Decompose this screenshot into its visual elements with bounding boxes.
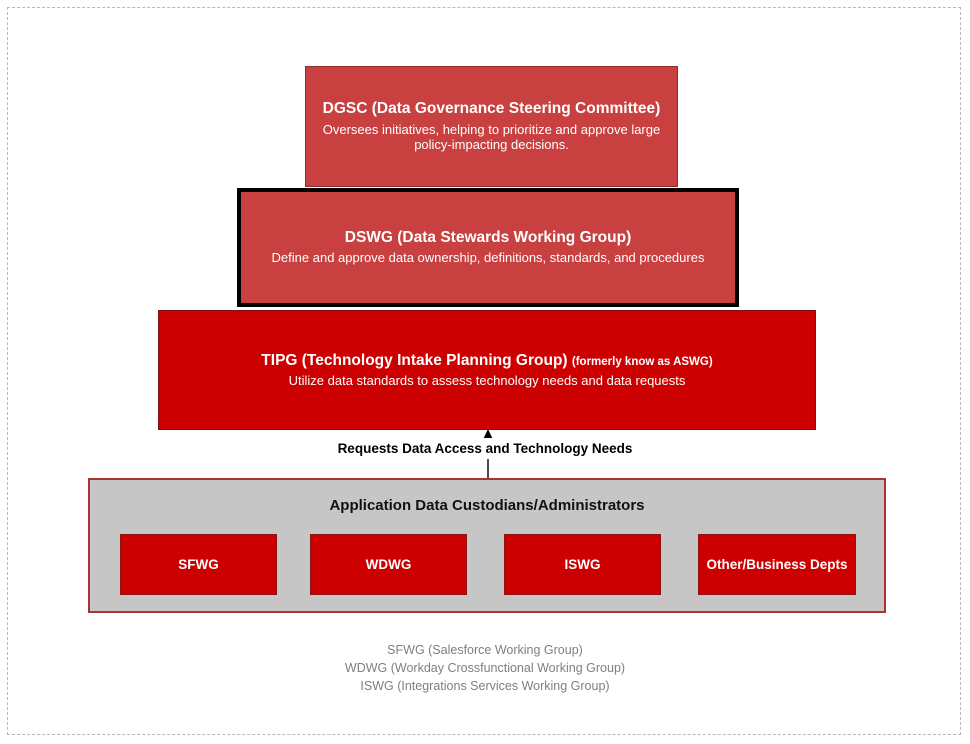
tier-dswg-title: DSWG (Data Stewards Working Group) [345,229,632,247]
diagram-canvas: DGSC (Data Governance Steering Committee… [0,0,970,744]
custodians-panel-title: Application Data Custodians/Administrato… [90,497,884,514]
tier-tipg-subtitle: Utilize data standards to assess technol… [289,373,686,389]
working-group-label: WDWG [366,557,412,572]
working-group-box-iswg[interactable]: ISWG [504,534,661,595]
tier-box-dgsc[interactable]: DGSC (Data Governance Steering Committee… [305,66,678,187]
tier-tipg-title: TIPG (Technology Intake Planning Group) … [261,352,712,370]
legend-line-wdwg: WDWG (Workday Crossfunctional Working Gr… [0,659,970,677]
arrow-up-icon [481,428,495,480]
tier-tipg-title-note: (formerly know as ASWG) [572,356,713,368]
tier-tipg-title-main: TIPG (Technology Intake Planning Group) [261,352,567,369]
working-group-box-other[interactable]: Other/Business Depts [698,534,856,595]
tier-box-tipg[interactable]: TIPG (Technology Intake Planning Group) … [158,310,816,430]
custodians-panel[interactable]: Application Data Custodians/Administrato… [88,478,886,613]
legend-line-sfwg: SFWG (Salesforce Working Group) [0,641,970,659]
working-group-box-wdwg[interactable]: WDWG [310,534,467,595]
tier-dgsc-subtitle: Oversees initiatives, helping to priorit… [319,122,664,153]
working-group-box-sfwg[interactable]: SFWG [120,534,277,595]
working-group-label: SFWG [178,557,219,572]
legend: SFWG (Salesforce Working Group) WDWG (Wo… [0,641,970,695]
working-group-label: Other/Business Depts [706,557,847,572]
tier-box-dswg[interactable]: DSWG (Data Stewards Working Group) Defin… [237,188,739,307]
tier-dswg-subtitle: Define and approve data ownership, defin… [272,250,705,266]
tier-dgsc-title: DGSC (Data Governance Steering Committee… [323,100,661,118]
legend-line-iswg: ISWG (Integrations Services Working Grou… [0,677,970,695]
working-group-label: ISWG [565,557,601,572]
